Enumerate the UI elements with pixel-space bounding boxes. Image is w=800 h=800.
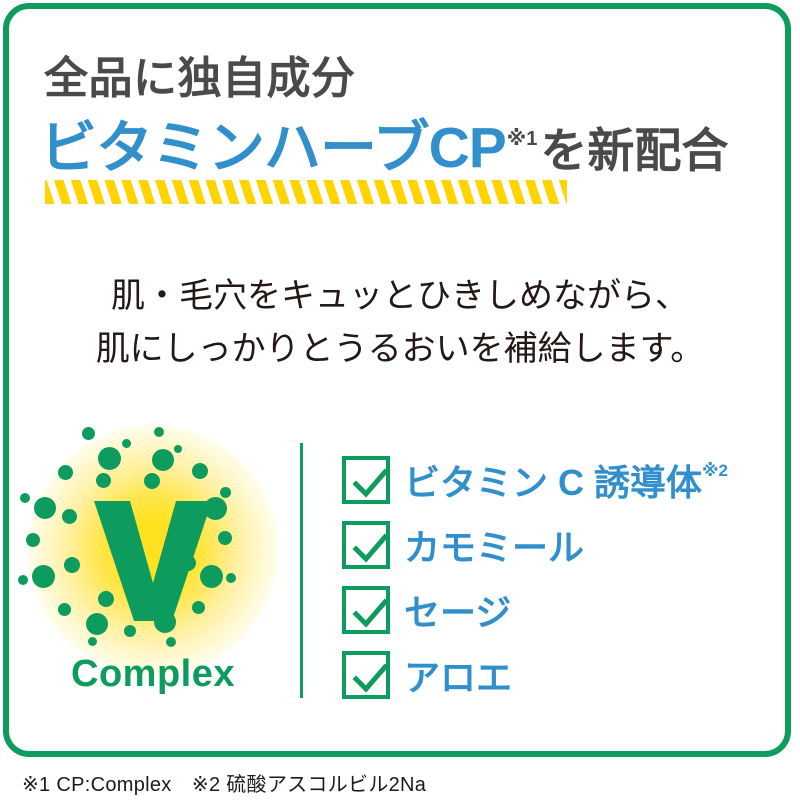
- checklist-item-footnote-marker: ※2: [702, 461, 728, 481]
- infographic-root: 全品に独自成分 ビタミンハーブCP※1を新配合 肌・毛穴をキュッとひきしめながら…: [0, 0, 800, 800]
- ingredient-checklist: ビタミン C 誘導体※2 カモミール セージ: [342, 447, 792, 707]
- checklist-item-label: アロエ: [404, 649, 512, 701]
- body-paragraph: 肌・毛穴をキュッとひきしめながら、 肌にしっかりとうるおいを補給します。: [0, 270, 800, 375]
- v-complex-logo: Complex: [14, 425, 294, 715]
- checklist-item: カモミール: [342, 512, 792, 577]
- headline-primary: 全品に独自成分: [44, 55, 356, 103]
- vertical-divider: [300, 443, 303, 698]
- checklist-item-label: セージ: [404, 584, 511, 636]
- headline-suffix: を新配合: [540, 124, 728, 177]
- footnotes: ※1 CP:Complex ※2 硫酸アスコルビル2Na: [22, 768, 426, 797]
- headline-footnote-marker: ※1: [507, 128, 538, 150]
- checkbox-checked-icon: [342, 521, 390, 569]
- body-line-1: 肌・毛穴をキュッとひきしめながら、: [0, 270, 800, 323]
- checklist-item: セージ: [342, 577, 792, 642]
- checklist-item: アロエ: [342, 642, 792, 707]
- checklist-item-label: ビタミン C 誘導体: [404, 454, 702, 506]
- checkbox-checked-icon: [342, 586, 390, 634]
- body-line-2: 肌にしっかりとうるおいを補給します。: [0, 323, 800, 376]
- logo-word-complex: Complex: [14, 653, 292, 696]
- checkbox-checked-icon: [342, 651, 390, 699]
- yellow-stripe-highlight: [45, 180, 567, 204]
- headline-ingredient-name: ビタミンハーブCP: [40, 116, 506, 180]
- headline-secondary: ビタミンハーブCP※1を新配合: [40, 120, 728, 177]
- checkbox-checked-icon: [342, 456, 390, 504]
- v-letter: [28, 425, 278, 675]
- checklist-item: ビタミン C 誘導体※2: [342, 447, 792, 512]
- checklist-item-label: カモミール: [404, 519, 584, 571]
- headline-secondary-block: ビタミンハーブCP※1を新配合: [40, 120, 780, 202]
